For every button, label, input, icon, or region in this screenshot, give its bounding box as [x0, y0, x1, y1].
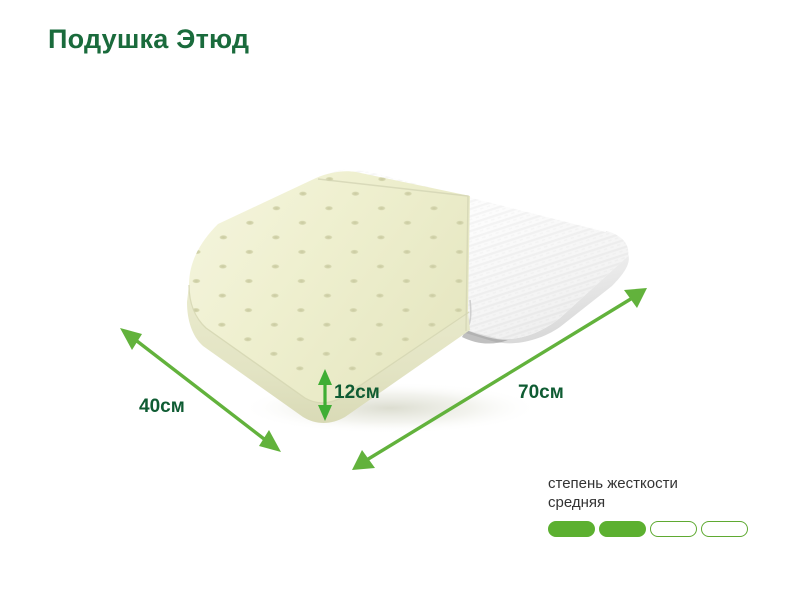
- hardness-caption-line2: средняя: [548, 493, 762, 512]
- dimension-label-width: 40см: [139, 396, 185, 418]
- hardness-caption-line1: степень жесткости: [548, 474, 762, 493]
- dimension-label-length: 70см: [518, 382, 564, 404]
- pillow-foam-top: [189, 171, 470, 402]
- hardness-segment-4: [701, 521, 748, 537]
- hardness-segment-1: [548, 521, 595, 537]
- product-image-canvas: Подушка Этюд: [0, 0, 800, 592]
- hardness-segment-2: [599, 521, 646, 537]
- hardness-indicator: степень жесткости средняя: [548, 474, 762, 537]
- hardness-segment-3: [650, 521, 697, 537]
- dimension-label-height: 12см: [334, 382, 380, 404]
- hardness-scale: [548, 521, 762, 537]
